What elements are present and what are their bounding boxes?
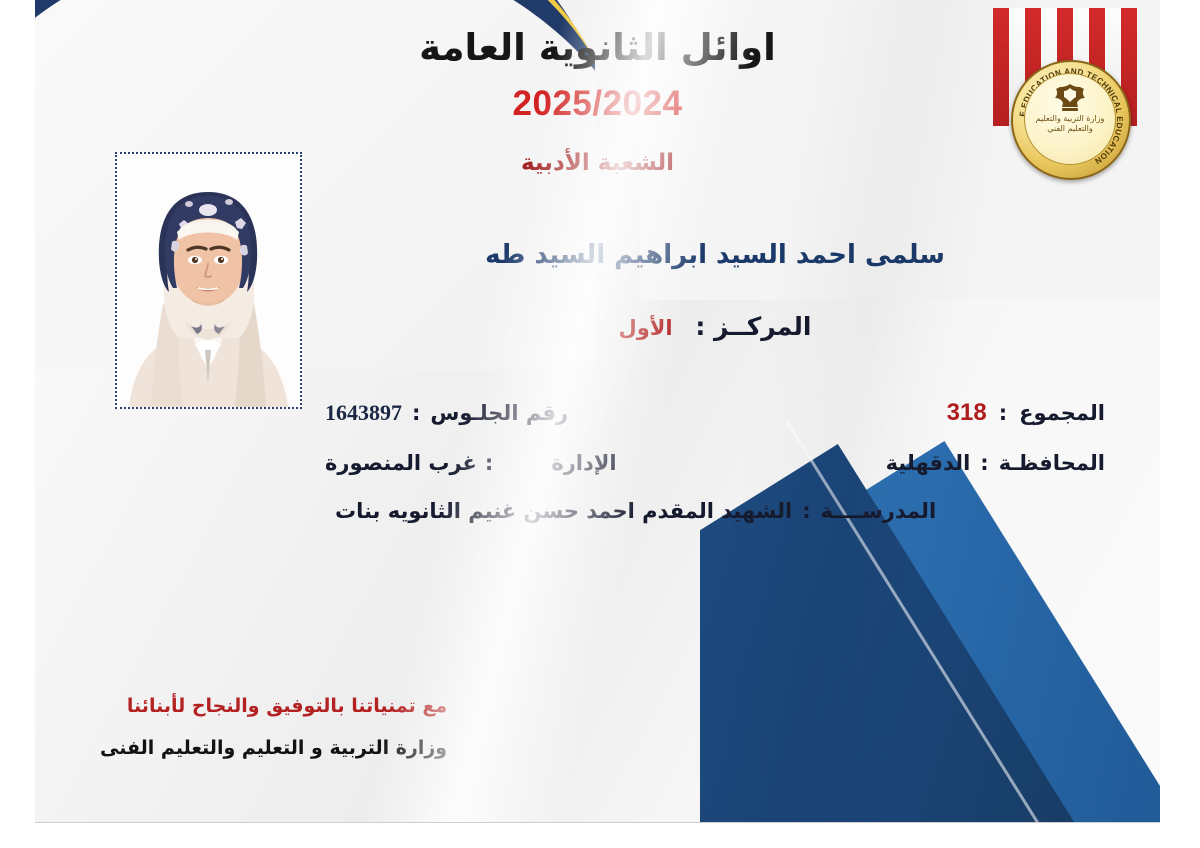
page-title: اوائل الثانوية العامة [35,26,1160,69]
administration-group: الإدارة : غرب المنصورة [325,451,617,475]
seat-colon: : [412,401,420,425]
governorate-and-admin-row: المحافظـة : الدقهلية الإدارة : غرب المنص… [325,451,1105,475]
certificate-card: MINISTRY OF EDUCATION AND TECHNICAL EDUC… [35,0,1160,823]
governorate-value: الدقهلية [886,451,971,475]
student-portrait-image [117,154,300,407]
total-colon: : [999,401,1007,425]
governorate-label: المحافظـة [999,451,1105,475]
school-group: المدرســــة : الشهيد المقدم احمد حسن غني… [325,499,936,523]
school-colon: : [802,499,810,523]
school-row: المدرســــة : الشهيد المقدم احمد حسن غني… [325,499,1105,523]
footer-ministry: وزارة التربية و التعليم والتعليم الفنى [100,737,447,759]
administration-value: غرب المنصورة [325,451,477,475]
certificate-page: MINISTRY OF EDUCATION AND TECHNICAL EDUC… [0,0,1200,848]
footer-wishes: مع تمنياتنا بالتوفيق والنجاح لأبنائنا [100,695,447,717]
rank-row: المركــز : الأول [325,312,1105,341]
medal-arabic-line2: والتعليم الفني [1025,124,1115,134]
total-group: المجموع : 318 [885,399,1105,427]
student-photo [115,152,302,409]
total-and-seat-row: المجموع : 318 رقم الجلـوس : 1643897 [325,399,1105,427]
administration-label: الإدارة [551,451,616,475]
administration-colon: : [485,451,493,475]
student-name: سلمى احمد السيد ابراهيم السيد طه [325,240,1105,270]
total-value: 318 [947,399,987,427]
seat-group: رقم الجلـوس : 1643897 [325,400,568,426]
rank-value: الأول [618,316,672,340]
rank-label: المركــز [714,312,811,341]
rank-colon: : [695,312,705,341]
governorate-group: المحافظـة : الدقهلية [846,451,1105,475]
school-value: الشهيد المقدم احمد حسن غنيم الثانويه بنا… [335,499,792,523]
total-label: المجموع [1019,401,1105,425]
student-info: سلمى احمد السيد ابراهيم السيد طه المركــ… [325,240,1105,523]
footer: مع تمنياتنا بالتوفيق والنجاح لأبنائنا وز… [100,695,447,759]
seat-label: رقم الجلـوس [430,401,568,425]
governorate-colon: : [980,451,988,475]
academic-years: 2025/2024 [35,84,1160,124]
seat-value: 1643897 [325,400,402,426]
school-label: المدرســــة [821,499,936,523]
